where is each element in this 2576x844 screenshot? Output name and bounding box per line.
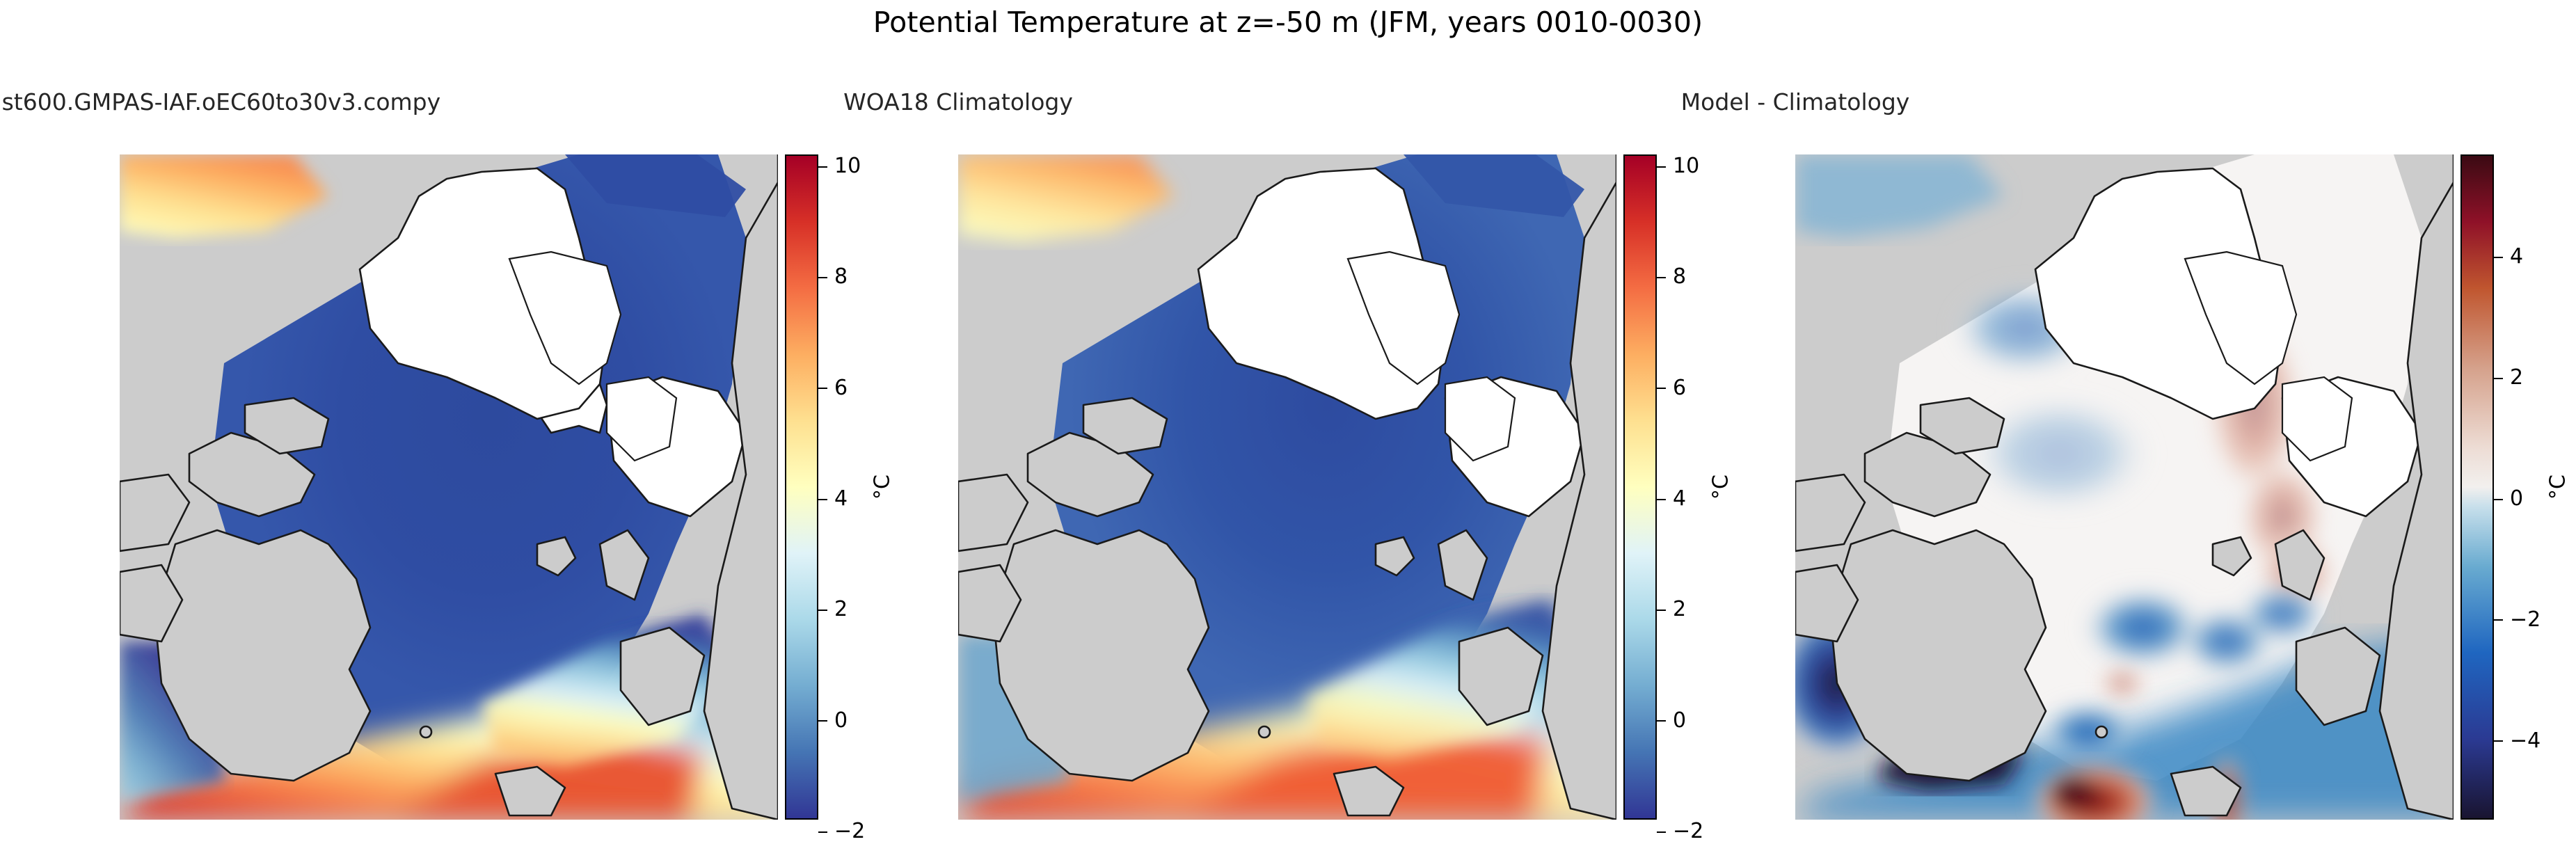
tick-mark	[1657, 388, 1666, 389]
tick-mark	[818, 720, 827, 722]
colorbar-gradient-model	[785, 154, 818, 820]
colorbar-difference: −4−2024 °C	[2460, 154, 2576, 820]
tick-label: 4	[1673, 486, 1686, 511]
colorbar-unit-climatology: °C	[1709, 475, 1733, 500]
tick-mark	[1657, 720, 1666, 722]
tick-mark	[2494, 740, 2503, 742]
tick-mark	[1657, 610, 1666, 611]
panel-title-model: 20200515.GMconst600.GMPAS-IAF.oEC60to30v…	[0, 88, 440, 116]
tick-mark	[818, 499, 827, 500]
panel-title-difference: Model - Climatology	[1681, 88, 1910, 116]
tick-mark	[818, 831, 827, 833]
colorbar-gradient-climatology	[1623, 154, 1657, 820]
tick-mark	[2494, 257, 2503, 258]
tick-label: 6	[1673, 376, 1686, 400]
tick-mark	[818, 166, 827, 168]
tick-label: 6	[834, 376, 848, 400]
arctic-map-climatology	[958, 154, 1616, 820]
colorbar-unit-model: °C	[870, 475, 895, 500]
arctic-map-model	[120, 154, 778, 820]
tick-label: 4	[834, 486, 848, 511]
tick-mark	[818, 388, 827, 389]
tick-mark	[1657, 277, 1666, 278]
tick-label: 0	[2510, 486, 2523, 511]
colorbar-model: −20246810 °C	[785, 154, 945, 820]
tick-mark	[2494, 619, 2503, 621]
tick-label: 8	[1673, 264, 1686, 289]
tick-label: 10	[834, 154, 861, 178]
map-axes-climatology[interactable]	[958, 154, 1616, 820]
tick-label: 2	[2510, 365, 2523, 390]
tick-mark	[1657, 831, 1666, 833]
tick-mark	[818, 277, 827, 278]
colorbar-unit-difference: °C	[2546, 475, 2570, 500]
tick-mark	[818, 610, 827, 611]
tick-label: 10	[1673, 154, 1699, 178]
tick-label: −2	[2510, 607, 2541, 632]
tick-mark	[1657, 499, 1666, 500]
colorbar-gradient-difference	[2460, 154, 2494, 820]
figure-title: Potential Temperature at z=-50 m (JFM, y…	[0, 6, 2576, 39]
tick-mark	[2494, 499, 2503, 500]
tick-mark	[1657, 166, 1666, 168]
tick-label: 0	[834, 708, 848, 733]
tick-label: −2	[834, 819, 865, 843]
arctic-map-difference	[1795, 154, 2454, 820]
tick-label: 2	[834, 597, 848, 621]
tick-label: −4	[2510, 728, 2541, 753]
tick-label: 0	[1673, 708, 1686, 733]
tick-label: 8	[834, 264, 848, 289]
tick-label: 4	[2510, 244, 2523, 269]
tick-mark	[2494, 378, 2503, 379]
map-axes-difference[interactable]	[1795, 154, 2454, 820]
tick-label: 2	[1673, 597, 1686, 621]
colorbar-climatology: −20246810 °C	[1623, 154, 1783, 820]
panel-title-climatology: WOA18 Climatology	[843, 88, 1073, 116]
map-axes-model[interactable]	[120, 154, 778, 820]
tick-label: −2	[1673, 819, 1703, 843]
